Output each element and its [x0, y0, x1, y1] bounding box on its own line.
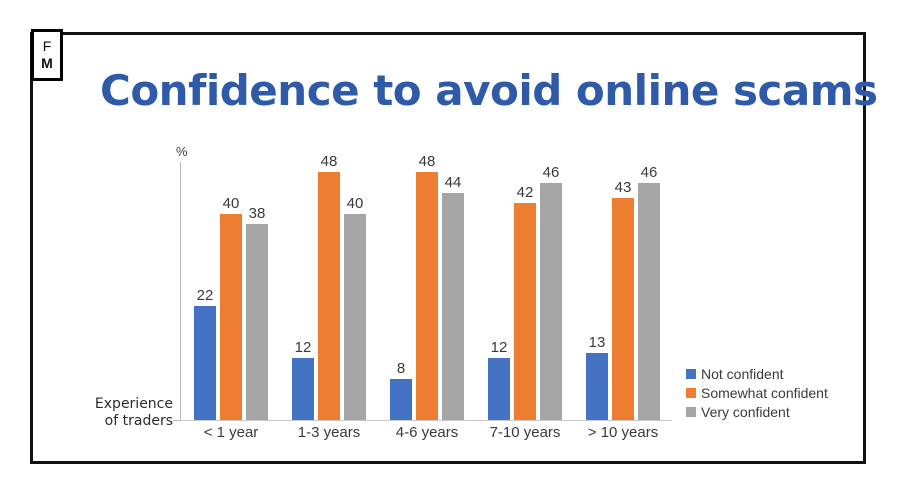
- bar[interactable]: [638, 183, 660, 420]
- x-axis-tick-label: 1-3 years: [280, 424, 378, 441]
- bar-column[interactable]: 8: [390, 162, 412, 420]
- legend-swatch-icon: [686, 369, 696, 379]
- bar-column[interactable]: 12: [292, 162, 314, 420]
- y-axis-caption-line1: Experience: [58, 396, 173, 413]
- logo-letter-m: M: [41, 55, 53, 72]
- bar-value-label: 44: [445, 174, 462, 191]
- bar[interactable]: [344, 214, 366, 420]
- bar[interactable]: [220, 214, 242, 420]
- legend-label: Very confident: [701, 404, 790, 420]
- bar-column[interactable]: 44: [442, 162, 464, 420]
- legend-label: Somewhat confident: [701, 385, 828, 401]
- bar-column[interactable]: 40: [220, 162, 242, 420]
- bar-value-label: 8: [397, 360, 405, 377]
- bar[interactable]: [442, 193, 464, 420]
- bar-groups: 22403812484084844124246134346: [182, 162, 672, 420]
- bar[interactable]: [514, 203, 536, 420]
- y-axis-caption: Experience of traders: [58, 396, 173, 430]
- x-axis-tick-label: > 10 years: [574, 424, 672, 441]
- bar-column[interactable]: 46: [540, 162, 562, 420]
- bar-value-label: 13: [589, 334, 606, 351]
- bar-column[interactable]: 42: [514, 162, 536, 420]
- bar-value-label: 48: [419, 153, 436, 170]
- bar-column[interactable]: 43: [612, 162, 634, 420]
- bar[interactable]: [318, 172, 340, 420]
- x-axis-line: [180, 420, 672, 421]
- bar-value-label: 42: [517, 184, 534, 201]
- bar-column[interactable]: 22: [194, 162, 216, 420]
- bar-value-label: 46: [543, 164, 560, 181]
- bar-column[interactable]: 38: [246, 162, 268, 420]
- y-axis-line: [180, 162, 181, 421]
- legend-label: Not confident: [701, 366, 784, 382]
- bar-group: 134346: [574, 162, 672, 420]
- chart-legend: Not confidentSomewhat confidentVery conf…: [686, 366, 828, 420]
- bar[interactable]: [612, 198, 634, 420]
- bar[interactable]: [246, 224, 268, 420]
- y-axis-caption-line2: of traders: [58, 413, 173, 430]
- bar-column[interactable]: 12: [488, 162, 510, 420]
- x-axis-tick-label: 4-6 years: [378, 424, 476, 441]
- chart-screenshot: F M Confidence to avoid online scams % E…: [0, 0, 900, 499]
- bar-value-label: 43: [615, 179, 632, 196]
- bar[interactable]: [390, 379, 412, 420]
- bar[interactable]: [416, 172, 438, 420]
- x-axis-labels: < 1 year1-3 years4-6 years7-10 years> 10…: [182, 424, 672, 441]
- bar-group: 224038: [182, 162, 280, 420]
- bar-value-label: 12: [491, 339, 508, 356]
- logo-letter-f: F: [43, 38, 52, 55]
- bar-value-label: 22: [197, 287, 214, 304]
- bar[interactable]: [488, 358, 510, 420]
- legend-item[interactable]: Very confident: [686, 404, 828, 420]
- bar-value-label: 48: [321, 153, 338, 170]
- bar-group: 84844: [378, 162, 476, 420]
- bar-value-label: 40: [347, 195, 364, 212]
- bar-column[interactable]: 46: [638, 162, 660, 420]
- bar[interactable]: [292, 358, 314, 420]
- bar-value-label: 40: [223, 195, 240, 212]
- bar-column[interactable]: 48: [416, 162, 438, 420]
- bar[interactable]: [540, 183, 562, 420]
- legend-swatch-icon: [686, 407, 696, 417]
- bar-value-label: 38: [249, 205, 266, 222]
- bar-group: 124246: [476, 162, 574, 420]
- bar-value-label: 46: [641, 164, 658, 181]
- chart-title: Confidence to avoid online scams: [100, 66, 830, 115]
- x-axis-tick-label: 7-10 years: [476, 424, 574, 441]
- bar[interactable]: [194, 306, 216, 420]
- bar-column[interactable]: 40: [344, 162, 366, 420]
- legend-swatch-icon: [686, 388, 696, 398]
- bar[interactable]: [586, 353, 608, 420]
- legend-item[interactable]: Somewhat confident: [686, 385, 828, 401]
- bar-column[interactable]: 48: [318, 162, 340, 420]
- bar-column[interactable]: 13: [586, 162, 608, 420]
- legend-item[interactable]: Not confident: [686, 366, 828, 382]
- bar-value-label: 12: [295, 339, 312, 356]
- y-axis-unit-label: %: [176, 144, 188, 159]
- bar-group: 124840: [280, 162, 378, 420]
- x-axis-tick-label: < 1 year: [182, 424, 280, 441]
- fm-logo: F M: [31, 29, 63, 81]
